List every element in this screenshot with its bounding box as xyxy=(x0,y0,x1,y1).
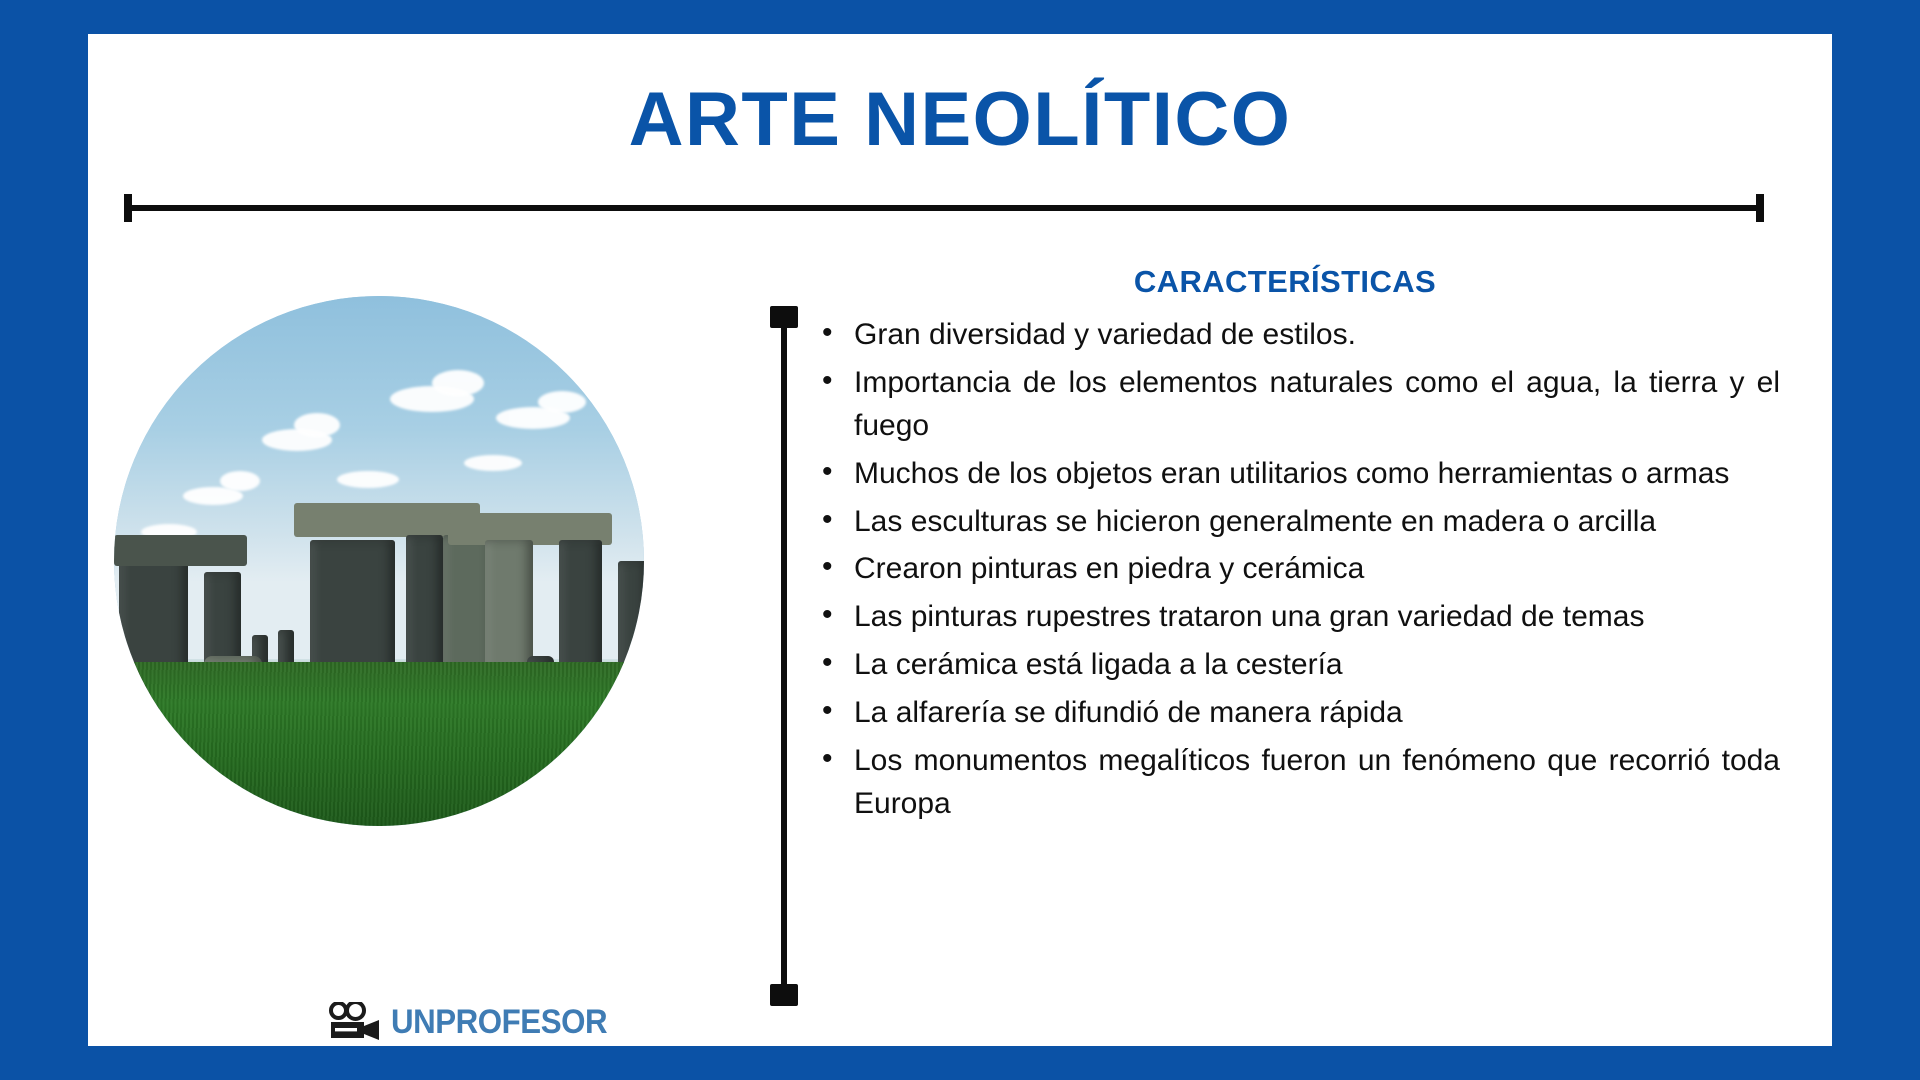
cloud xyxy=(337,471,399,488)
cloud xyxy=(294,413,340,437)
title-divider xyxy=(124,194,1764,222)
list-item: Gran diversidad y variedad de estilos. xyxy=(810,314,1780,357)
list-item: Importancia de los elementos naturales c… xyxy=(810,362,1780,448)
photo-grass xyxy=(114,662,644,826)
unprofesor-logo[interactable]: UNPROFESOR xyxy=(328,1002,626,1042)
list-item: Crearon pinturas en piedra y cerámica xyxy=(810,548,1780,591)
cloud xyxy=(220,471,260,491)
divider-bar xyxy=(124,205,1764,211)
divider-right-cap xyxy=(1756,194,1764,222)
photo-container xyxy=(114,296,644,826)
list-item: Las pinturas rupestres trataron una gran… xyxy=(810,596,1780,639)
blue-page-frame: ARTE NEOLÍTICO xyxy=(0,0,1920,1080)
list-item: Muchos de los objetos eran utilitarios c… xyxy=(810,453,1780,496)
cloud xyxy=(432,370,484,396)
vdivider-bar xyxy=(781,306,787,1006)
page-title: ARTE NEOLÍTICO xyxy=(88,82,1832,158)
list-item: Las esculturas se hicieron generalmente … xyxy=(810,501,1780,544)
video-camera-icon xyxy=(328,1002,382,1042)
stonehenge-photo xyxy=(114,296,644,826)
logo-text: UNPROFESOR xyxy=(391,1003,607,1042)
section-heading: CARACTERÍSTICAS xyxy=(810,264,1780,300)
section-vertical-divider xyxy=(770,306,798,1006)
list-item: Los monumentos megalíticos fueron un fen… xyxy=(810,740,1780,826)
characteristics-list: Gran diversidad y variedad de estilos. I… xyxy=(810,314,1780,826)
megalith-lintel xyxy=(114,535,247,567)
vdivider-bottom-cap xyxy=(770,984,798,1006)
list-item: La cerámica está ligada a la cestería xyxy=(810,644,1780,687)
characteristics-section: CARACTERÍSTICAS Gran diversidad y varied… xyxy=(810,264,1780,831)
cloud xyxy=(464,455,522,471)
content-card: ARTE NEOLÍTICO xyxy=(88,34,1832,1046)
list-item: La alfarería se difundió de manera rápid… xyxy=(810,692,1780,735)
